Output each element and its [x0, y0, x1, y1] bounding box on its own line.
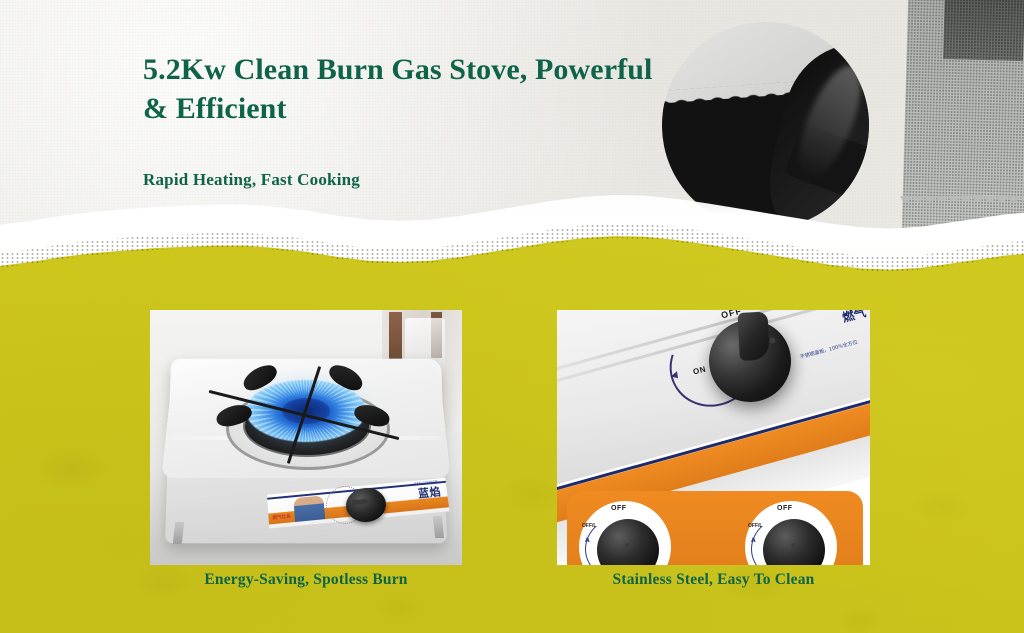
gallery-image-stove-flame: GAS COOKER 蓝焰 燃气灶具 — [150, 310, 462, 565]
grate-bar-vertical — [287, 366, 321, 464]
product-banner: 5.2Kw Clean Burn Gas Stove, Powerful & E… — [0, 0, 1024, 633]
grate-foot — [214, 401, 254, 429]
caption-stove-flame: Energy-Saving, Spotless Burn — [150, 571, 462, 589]
lower-knob-side-label: OFF/L — [748, 523, 762, 529]
panel-person-graphic — [293, 495, 325, 522]
panel-brand-cn: 蓝焰 — [417, 483, 442, 501]
knob-indicator-dot — [769, 337, 776, 344]
lower-knob-mark: A — [585, 537, 590, 544]
lower-knob-side-label: OFF/L — [582, 523, 596, 529]
grate-foot — [326, 360, 367, 394]
page-subtitle: Rapid Heating, Fast Cooking — [143, 170, 360, 190]
lower-knob-mark: A — [751, 537, 756, 544]
pan-support-grate — [202, 362, 406, 468]
grate-foot — [352, 401, 392, 429]
lower-knob-off-label: OFF — [611, 505, 627, 512]
burner-grate-closeup-image — [662, 22, 869, 229]
page-title: 5.2Kw Clean Burn Gas Stove, Powerful & E… — [143, 50, 683, 128]
gallery-image-knob-closeup: 燃气 不锈钢面板，100%全方位 OFF ON OFF OFF/L A OFF … — [557, 310, 870, 565]
lower-knob-off-label: OFF — [777, 505, 793, 512]
grate-foot — [240, 360, 281, 394]
background-wood-panel — [389, 312, 402, 364]
newsprint-dark-block — [943, 0, 1024, 61]
lower-knob-indicator-dot — [625, 543, 630, 548]
knob-grip — [737, 311, 769, 361]
lower-knob-indicator-dot — [791, 543, 796, 548]
caption-knob-closeup: Stainless Steel, Easy To Clean — [557, 571, 870, 589]
newsprint-frayed-edge — [900, 196, 1024, 236]
